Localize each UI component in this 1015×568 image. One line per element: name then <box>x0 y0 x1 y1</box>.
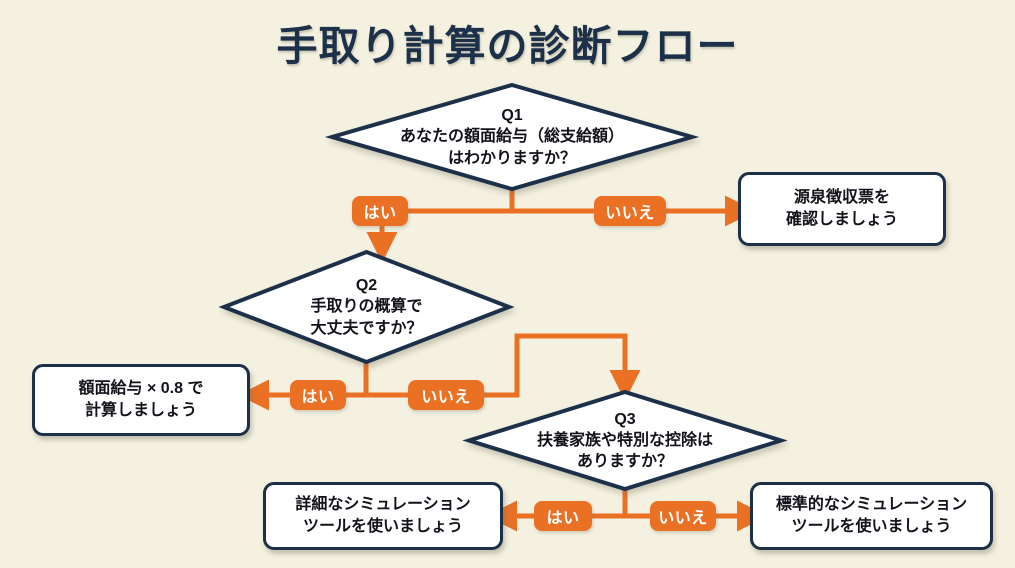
result-rough-estimate[interactable]: 額面給与 × 0.8 で 計算しましょう <box>32 364 250 436</box>
result-rough-estimate-line2: 計算しましょう <box>79 400 204 422</box>
result-detailed-tool-line2: ツールを使いましょう <box>295 516 470 538</box>
node-q3[interactable]: Q3 扶養家族や特別な控除は ありますか？ <box>467 390 783 491</box>
result-withholding-slip-text: 源泉徴収票を 確認しましょう <box>786 187 898 230</box>
result-standard-tool-line2: ツールを使いましょう <box>776 516 967 538</box>
result-withholding-slip-line1: 源泉徴収票を <box>786 187 898 209</box>
edge-label-q1-no[interactable]: いいえ <box>594 196 666 226</box>
result-detailed-tool-line1: 詳細なシミュレーション <box>295 494 470 516</box>
result-standard-tool[interactable]: 標準的なシミュレーション ツールを使いましょう <box>750 482 993 550</box>
result-withholding-slip-line2: 確認しましょう <box>786 209 898 231</box>
flowchart-canvas: 手取り計算の診断フロー <box>0 0 1015 568</box>
result-rough-estimate-text: 額面給与 × 0.8 で 計算しましょう <box>79 378 204 421</box>
edge-label-q1-yes[interactable]: はい <box>352 196 408 226</box>
node-q2[interactable]: Q2 手取りの概算で 大丈夫ですか？ <box>222 250 511 364</box>
result-standard-tool-line1: 標準的なシミュレーション <box>776 494 967 516</box>
node-q1[interactable]: Q1 あなたの額面給与（総支給額） はわかりますか？ <box>330 83 694 191</box>
result-standard-tool-text: 標準的なシミュレーション ツールを使いましょう <box>776 494 967 537</box>
result-detailed-tool-text: 詳細なシミュレーション ツールを使いましょう <box>295 494 470 537</box>
edge-label-q2-no[interactable]: いいえ <box>408 380 484 410</box>
result-detailed-tool[interactable]: 詳細なシミュレーション ツールを使いましょう <box>263 482 503 550</box>
result-withholding-slip[interactable]: 源泉徴収票を 確認しましょう <box>738 172 946 246</box>
result-rough-estimate-line1: 額面給与 × 0.8 で <box>79 378 204 400</box>
edge-label-q2-yes[interactable]: はい <box>290 380 346 410</box>
edge-label-q3-yes[interactable]: はい <box>534 501 592 531</box>
edge-label-q3-no[interactable]: いいえ <box>650 501 716 531</box>
